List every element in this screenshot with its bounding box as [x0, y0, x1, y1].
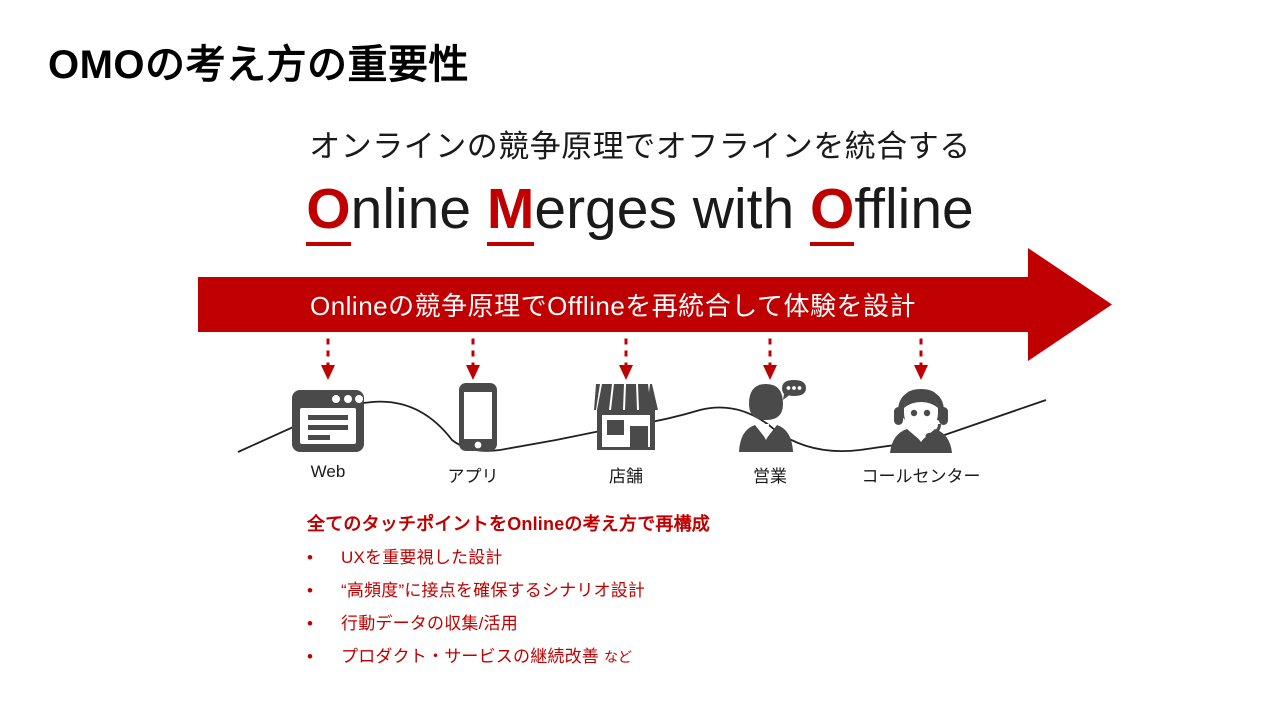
headline-cap-m: M [487, 177, 534, 246]
bullet-suffix-4: など [604, 647, 632, 667]
touchpoint-label-store: 店舗 [609, 462, 643, 487]
bullet-text-2: “高頻度”に接点を確保するシナリオ設計 [341, 576, 645, 601]
bullet-text-4: プロダクト・サービスの継続改善 [341, 642, 599, 667]
bullet-text-3: 行動データの収集/活用 [341, 609, 518, 634]
touchpoint-app[interactable]: アプリ [398, 378, 548, 487]
touchpoint-label-app: アプリ [448, 462, 499, 487]
list-item: • 行動データの収集/活用 [307, 609, 927, 634]
headline-rest-2: erges with [534, 177, 810, 241]
touchpoint-callcenter[interactable]: コールセンター [846, 378, 996, 487]
touchpoint-label-callcenter: コールセンター [862, 462, 981, 487]
browser-window-icon [288, 378, 368, 456]
headset-operator-icon [878, 378, 964, 456]
storefront-icon [583, 378, 669, 456]
touchpoint-label-sales: 営業 [753, 462, 787, 487]
list-item: • プロダクト・サービスの継続改善 など [307, 642, 927, 667]
headline-cap-o1: O [306, 177, 350, 246]
headline-rest-1: nline [351, 177, 487, 241]
page-title: OMOの考え方の重要性 [48, 32, 469, 90]
touchpoint-label-web: Web [311, 462, 346, 482]
bullet-marker-icon: • [307, 549, 341, 566]
bullet-text-1: UXを重要視した設計 [341, 543, 503, 568]
smartphone-icon [433, 378, 513, 456]
headline-cap-o2: O [810, 177, 854, 246]
touchpoint-store[interactable]: 店舗 [551, 378, 701, 487]
headline-omo: Online Merges with Offline [0, 176, 1280, 242]
bullet-heading: 全てのタッチポイントをOnlineの考え方で再構成 [307, 510, 927, 536]
slide-canvas: OMOの考え方の重要性 オンラインの競争原理でオフラインを統合する Online… [0, 0, 1280, 720]
touchpoint-web[interactable]: Web [253, 378, 403, 482]
salesperson-speech-icon [727, 378, 813, 456]
list-item: • “高頻度”に接点を確保するシナリオ設計 [307, 576, 927, 601]
bullet-marker-icon: • [307, 582, 341, 599]
touchpoint-row: Web アプリ [0, 378, 1280, 488]
bullet-marker-icon: • [307, 648, 341, 665]
headline-rest-3: ffline [854, 177, 973, 241]
list-item: • UXを重要視した設計 [307, 543, 927, 568]
bullet-block: 全てのタッチポイントをOnlineの考え方で再構成 • UXを重要視した設計 •… [307, 510, 927, 675]
bullet-marker-icon: • [307, 615, 341, 632]
subtitle-text: オンラインの競争原理でオフラインを統合する [0, 121, 1280, 166]
touchpoint-sales[interactable]: 営業 [695, 378, 845, 487]
